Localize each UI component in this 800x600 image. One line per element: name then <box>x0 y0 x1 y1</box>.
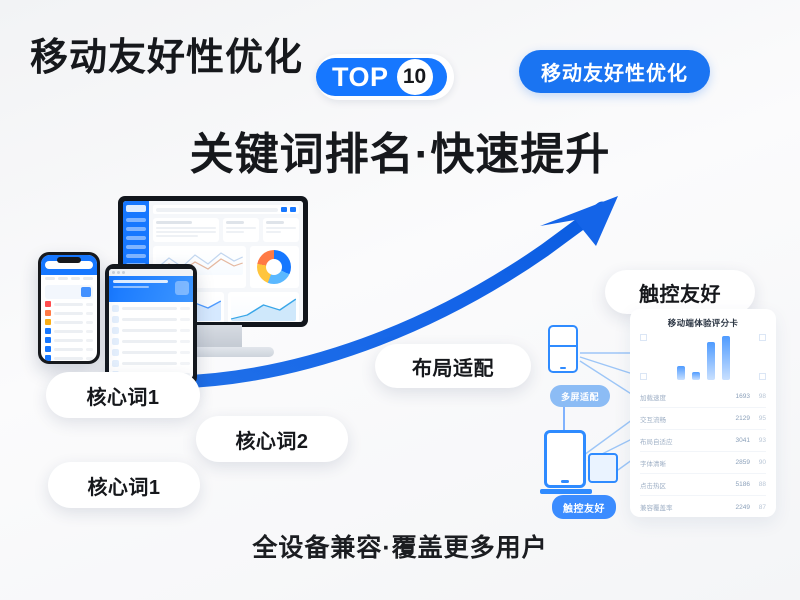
chart-bar <box>677 366 685 380</box>
score-card-chart <box>640 334 766 380</box>
top-rank-pill: TOP 10 <box>316 58 447 96</box>
table-row: 布局自适应 3041 93 <box>640 430 766 452</box>
table-row: 点击热区 5186 88 <box>640 474 766 496</box>
multi-screen-badge: 多屏适配 <box>550 385 610 407</box>
top-rank-badge: TOP 10 <box>316 54 454 100</box>
table-row: 字体清晰 2859 90 <box>640 452 766 474</box>
list-item[interactable]: 核心词1 <box>46 372 200 418</box>
mobile-experience-illustration: 多屏适配 触控友好 移动端体验评分卡 加载速度 1693 98 <box>540 305 780 520</box>
tablet-device-icon <box>105 264 197 386</box>
chart-bar <box>722 336 730 380</box>
score-list: 加载速度 1693 98 交互流畅 2129 95 布局自适应 3041 93 … <box>640 386 766 518</box>
chart-bar <box>692 372 700 380</box>
list-item[interactable]: 核心词2 <box>196 416 348 462</box>
table-row: 兼容覆盖率 2249 87 <box>640 496 766 518</box>
score-card: 移动端体验评分卡 加载速度 1693 98 交互流畅 2129 95 <box>630 309 776 517</box>
smartphone-icon <box>38 252 100 364</box>
top-rank-number: 10 <box>397 59 433 95</box>
status-badge: 移动友好性优化 <box>519 50 710 93</box>
score-card-title: 移动端体验评分卡 <box>640 317 766 329</box>
table-row: 交互流畅 2129 95 <box>640 408 766 430</box>
list-item[interactable]: 核心词1 <box>48 462 200 508</box>
chart-bar <box>707 342 715 380</box>
device-base-bar <box>540 489 592 494</box>
poster-canvas: 移动友好性优化 TOP 10 移动友好性优化 关键词排名·快速提升 <box>0 0 800 600</box>
top-rank-label: TOP <box>332 64 389 91</box>
list-item[interactable]: 布局适配 <box>375 344 531 388</box>
footer-tagline: 全设备兼容·覆盖更多用户 <box>0 528 800 564</box>
small-phone-icon <box>548 325 578 373</box>
page-title: 移动友好性优化 <box>30 26 303 81</box>
donut-chart <box>257 250 291 284</box>
large-phone-icon <box>544 430 586 488</box>
touch-friendly-badge: 触控友好 <box>552 495 616 519</box>
laptop-icon <box>588 453 618 483</box>
table-row: 加载速度 1693 98 <box>640 386 766 408</box>
